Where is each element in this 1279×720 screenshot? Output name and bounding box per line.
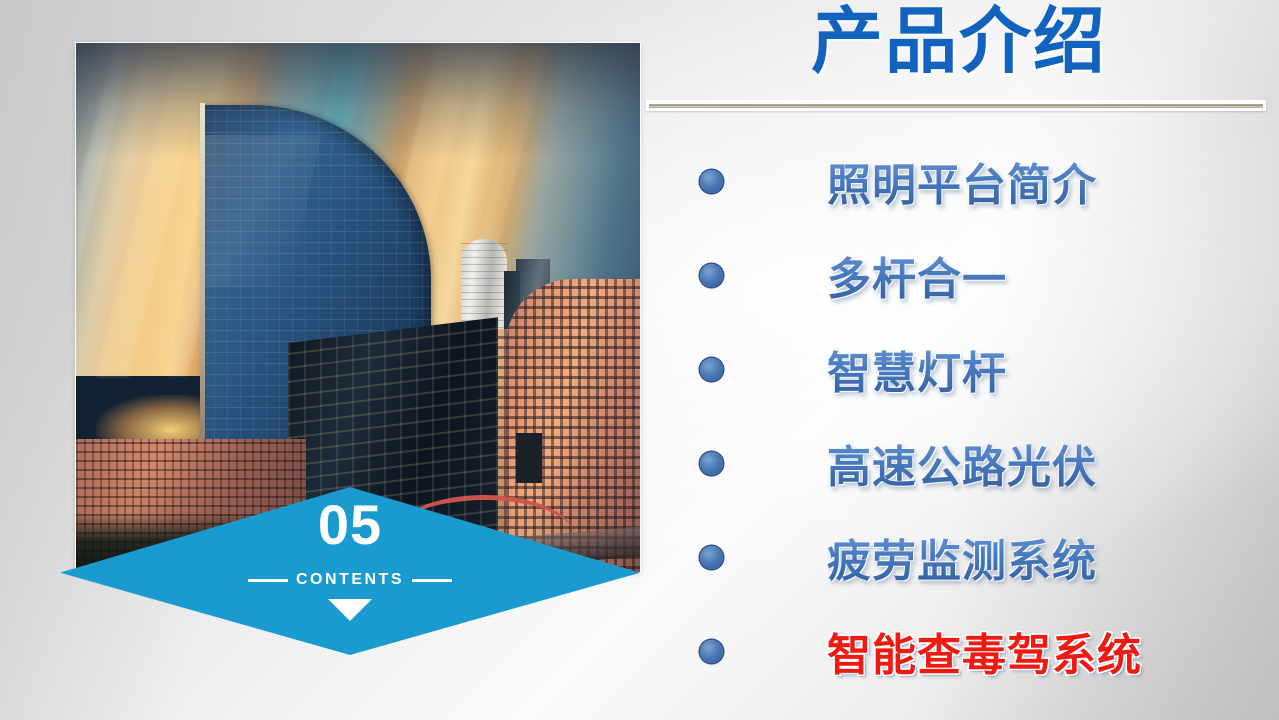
- page-title: 产品介绍: [645, 2, 1273, 83]
- bullet-dot-icon: [700, 546, 723, 569]
- list-item-label: 疲劳监测系统: [827, 525, 1097, 589]
- slide-root: 05 CONTENTS 产品介绍 照明平台简介 多杆合一 智慧灯杆 高速公路光伏: [0, 0, 1279, 720]
- list-item-label: 智慧灯杆: [827, 337, 1007, 401]
- list-item[interactable]: 疲劳监测系统: [700, 510, 1275, 604]
- title-divider: [646, 100, 1266, 111]
- divider-bar: [648, 103, 1264, 109]
- glass-tower-edge: [200, 103, 205, 485]
- list-item[interactable]: 多杆合一: [700, 228, 1275, 322]
- contents-list: 照明平台简介 多杆合一 智慧灯杆 高速公路光伏 疲劳监测系统 智能查毒驾系统: [700, 134, 1275, 698]
- list-item-label-highlight: 智能查毒驾系统: [827, 619, 1142, 683]
- contents-caption-text: CONTENTS: [296, 571, 404, 589]
- bullet-dot-icon: [700, 358, 723, 381]
- bullet-dot-icon: [700, 170, 723, 193]
- list-item-label: 照明平台简介: [827, 149, 1097, 213]
- list-item-label: 高速公路光伏: [827, 431, 1097, 495]
- list-item[interactable]: 智慧灯杆: [700, 322, 1275, 416]
- contents-caption: CONTENTS: [60, 571, 640, 589]
- caption-rule-left: [248, 579, 288, 582]
- bullet-dot-icon: [700, 452, 723, 475]
- list-item[interactable]: 照明平台简介: [700, 134, 1275, 228]
- bullet-dot-icon: [700, 640, 723, 663]
- list-item[interactable]: 高速公路光伏: [700, 416, 1275, 510]
- bullet-dot-icon: [700, 264, 723, 287]
- building-notch: [516, 433, 542, 483]
- triangle-down-icon: [328, 599, 372, 621]
- list-item[interactable]: 智能查毒驾系统: [700, 604, 1275, 698]
- list-item-label: 多杆合一: [827, 243, 1007, 307]
- caption-rule-right: [412, 579, 452, 582]
